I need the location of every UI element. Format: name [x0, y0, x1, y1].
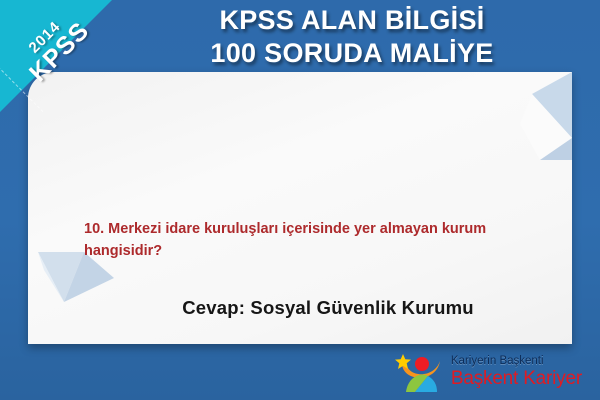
content-card: 10. Merkezi idare kuruluşları içerisinde…: [28, 72, 572, 344]
baskent-kariyer-logo-icon: [395, 352, 447, 394]
header-title-line-2: 100 SORUDA MALİYE: [112, 37, 592, 70]
logo-brand-name: Başkent Kariyer: [451, 369, 582, 388]
logo-tagline: Kariyerin Başkenti: [451, 356, 582, 368]
header-title-block: KPSS ALAN BİLGİSİ 100 SORUDA MALİYE: [112, 4, 592, 70]
answer-text: Cevap: Sosyal Güvenlik Kurumu: [56, 297, 600, 319]
corner-ribbon: 2014 KPSS: [0, 0, 112, 112]
brand-logo[interactable]: Kariyerin Başkenti Başkent Kariyer: [395, 352, 582, 394]
page-fold-top-right-icon: [510, 72, 572, 160]
slide-canvas: 2014 KPSS KPSS ALAN BİLGİSİ 100 SORUDA M…: [0, 0, 600, 400]
logo-wordmark: Kariyerin Başkenti Başkent Kariyer: [451, 356, 582, 391]
header-title-line-1: KPSS ALAN BİLGİSİ: [112, 4, 592, 37]
question-text: 10. Merkezi idare kuruluşları içerisinde…: [84, 218, 554, 262]
